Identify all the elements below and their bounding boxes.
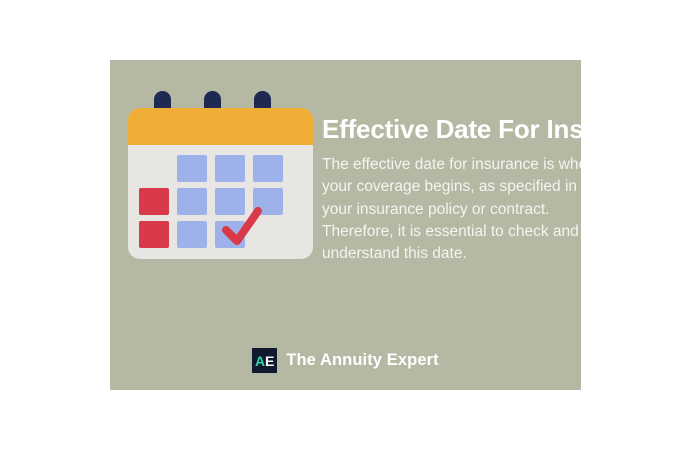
calendar-header-bar [128,108,313,145]
brand-lockup: A E The Annuity Expert [110,348,581,373]
calendar-cell [253,221,283,248]
image-canvas: Effective Date For Insurance The effecti… [0,0,690,460]
calendar-cell [253,155,283,182]
svg-text:E: E [265,353,274,369]
calendar-illustration [128,87,320,259]
text-column: Effective Date For Insurance The effecti… [322,112,581,266]
calendar-card [128,108,313,259]
calendar-cell [177,155,207,182]
calendar-cell [139,155,169,182]
calendar-day-grid [139,155,304,251]
calendar-cell [177,221,207,248]
content-panel: Effective Date For Insurance The effecti… [110,60,581,390]
calendar-cell [177,188,207,215]
brand-name: The Annuity Expert [286,351,438,370]
calendar-cell [139,221,169,248]
calendar-cell [139,188,169,215]
calendar-cell [253,188,283,215]
body-paragraph: The effective date for insurance is when… [322,154,581,266]
calendar-cell-selected [215,221,245,248]
page-title: Effective Date For Insurance [322,112,581,146]
calendar-cell [215,155,245,182]
calendar-cell [215,188,245,215]
svg-text:A: A [255,353,265,369]
annuity-expert-logo-icon: A E [252,348,277,373]
